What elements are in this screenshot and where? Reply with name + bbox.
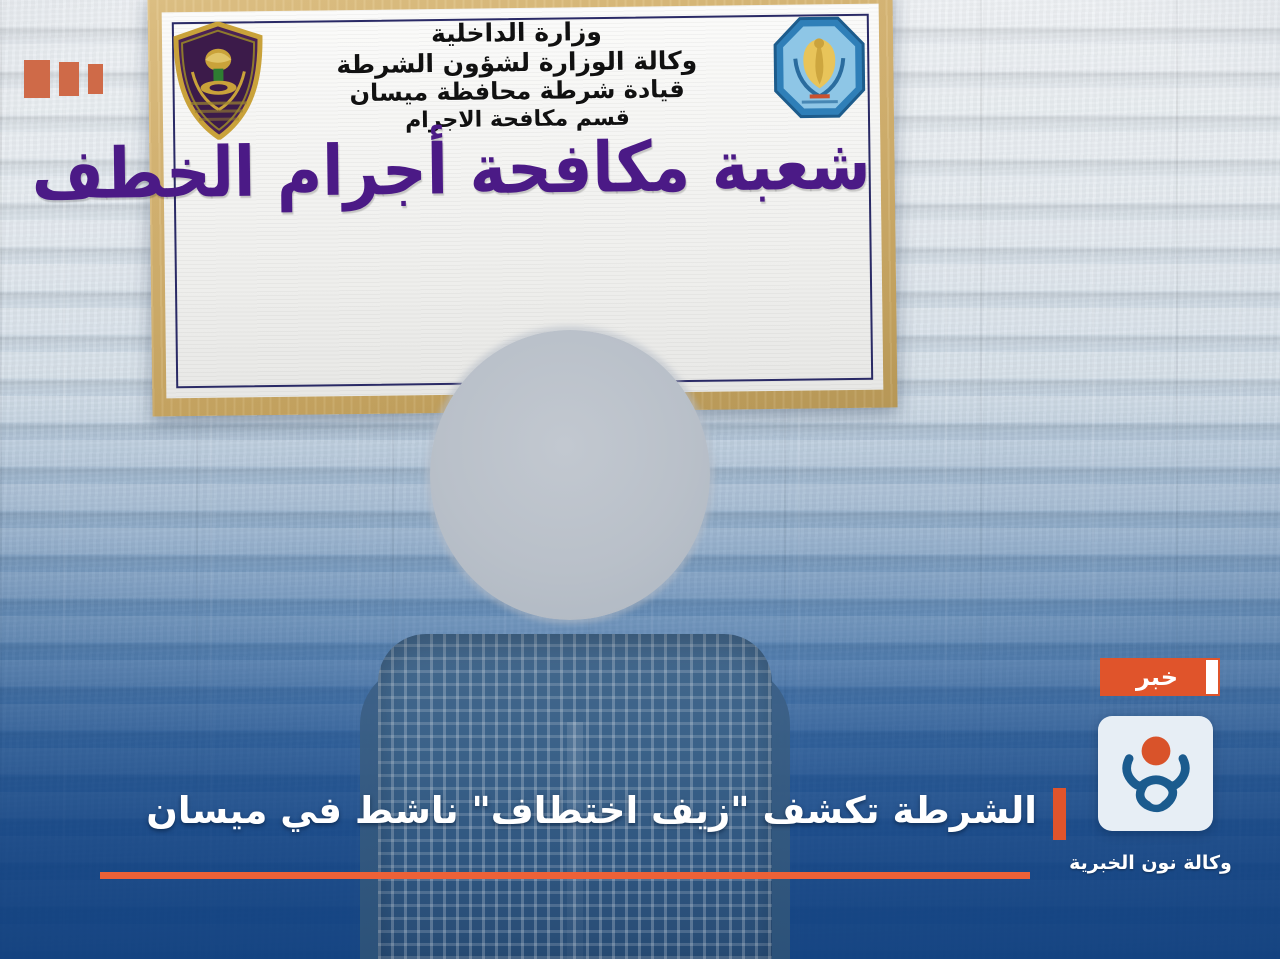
sign-department-title: شعبة مكافحة أجرام الخطف	[173, 130, 871, 208]
news-badge-label: خبر	[1136, 665, 1178, 689]
sign-header-row: وزارة الداخلية وكالة الوزارة لشؤون الشرط…	[172, 10, 870, 141]
news-badge: خبر	[1100, 658, 1220, 696]
tick-mark-2-icon	[59, 62, 79, 96]
blurred-subject	[360, 612, 790, 959]
shirt-placket	[567, 722, 583, 959]
sign-line-2: وكالة الوزارة لشؤون الشرطة	[274, 45, 759, 80]
sign-text-lines: وزارة الداخلية وكالة الوزارة لشؤون الشرط…	[270, 11, 764, 136]
tick-mark-3-icon	[88, 64, 103, 94]
face-blur-circle	[430, 330, 710, 620]
corner-tick-marks	[24, 60, 103, 98]
headline-underline-rule	[100, 872, 1030, 879]
sign-content: وزارة الداخلية وكالة الوزارة لشؤون الشرط…	[172, 10, 874, 394]
news-graphic-stage: وزارة الداخلية وكالة الوزارة لشؤون الشرط…	[0, 0, 1280, 959]
noon-news-agency-logo	[1098, 716, 1213, 831]
iraqi-police-emblem-icon	[769, 12, 870, 131]
headline-accent-bar	[1053, 788, 1066, 840]
tick-mark-1-icon	[24, 60, 50, 98]
sign-department-row: شعبة مكافحة أجرام الخطف	[173, 134, 871, 205]
ministry-of-interior-emblem-icon	[172, 21, 265, 140]
headline-text: الشرطة تكشف "زيف اختطاف" ناشط في ميسان	[117, 788, 1037, 834]
agency-name: وكالة نون الخبرية	[1028, 852, 1273, 874]
noon-letter-icon	[1108, 726, 1204, 822]
sign-line-3: قيادة شرطة محافظة ميسان	[274, 74, 759, 108]
